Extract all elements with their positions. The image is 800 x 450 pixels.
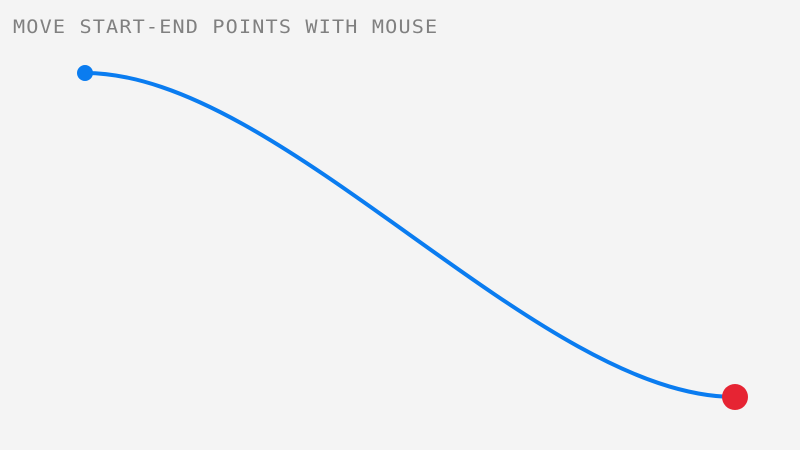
- bezier-canvas[interactable]: [0, 0, 800, 450]
- end-point-drag-target[interactable]: [715, 377, 755, 417]
- bezier-curve-path: [85, 73, 735, 397]
- start-point-drag-target[interactable]: [71, 59, 99, 87]
- bezier-editor-app: MOVE START-END POINTS WITH MOUSE: [0, 0, 800, 450]
